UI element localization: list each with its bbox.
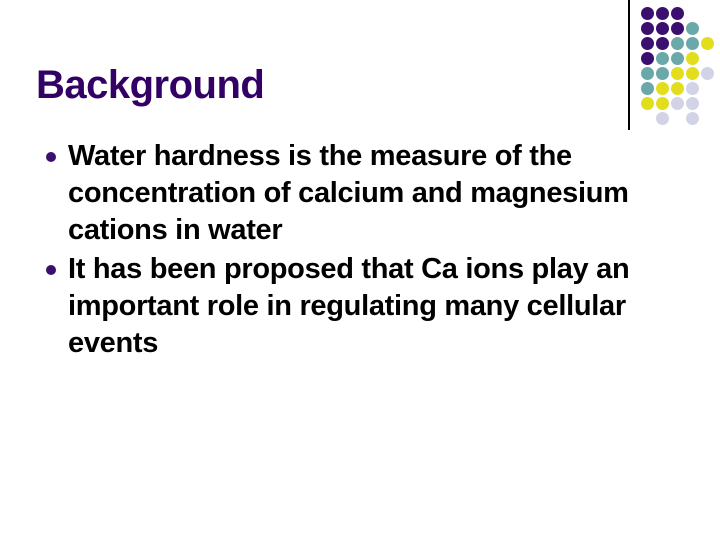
list-item: Water hardness is the measure of the con… (36, 138, 656, 249)
page-title: Background (36, 62, 596, 108)
decorative-dot (671, 82, 684, 95)
decorative-dot (686, 37, 699, 50)
decorative-dot (686, 97, 699, 110)
decorative-dot (656, 97, 669, 110)
decorative-dot (641, 67, 654, 80)
slide-canvas: Background Water hardness is the measure… (0, 0, 720, 540)
decorative-dot (686, 82, 699, 95)
bullet-list: Water hardness is the measure of the con… (36, 138, 656, 364)
decorative-dot (671, 37, 684, 50)
decorative-dot (656, 37, 669, 50)
decorative-dot (671, 22, 684, 35)
decorative-dot (641, 97, 654, 110)
decorative-dot (656, 22, 669, 35)
decorative-dot (656, 52, 669, 65)
decorative-dot (686, 22, 699, 35)
decorative-dot (641, 22, 654, 35)
vertical-rule-divider (628, 0, 630, 130)
decorative-dot (656, 67, 669, 80)
decorative-dot-pattern (628, 0, 720, 132)
dot-grid (641, 7, 720, 125)
decorative-dot (671, 7, 684, 20)
list-item-text: Water hardness is the measure of the con… (68, 140, 629, 246)
decorative-dot (656, 112, 669, 125)
bullet-disc-icon (46, 265, 56, 275)
decorative-dot (641, 82, 654, 95)
decorative-dot (671, 97, 684, 110)
decorative-dot (686, 52, 699, 65)
decorative-dot (686, 112, 699, 125)
decorative-dot (641, 37, 654, 50)
list-item-text: It has been proposed that Ca ions play a… (68, 253, 629, 359)
decorative-dot (701, 37, 714, 50)
decorative-dot (641, 7, 654, 20)
decorative-dot (641, 52, 654, 65)
list-item: It has been proposed that Ca ions play a… (36, 251, 656, 362)
decorative-dot (701, 67, 714, 80)
decorative-dot (671, 67, 684, 80)
decorative-dot (671, 52, 684, 65)
decorative-dot (656, 7, 669, 20)
decorative-dot (686, 67, 699, 80)
decorative-dot (656, 82, 669, 95)
bullet-disc-icon (46, 152, 56, 162)
